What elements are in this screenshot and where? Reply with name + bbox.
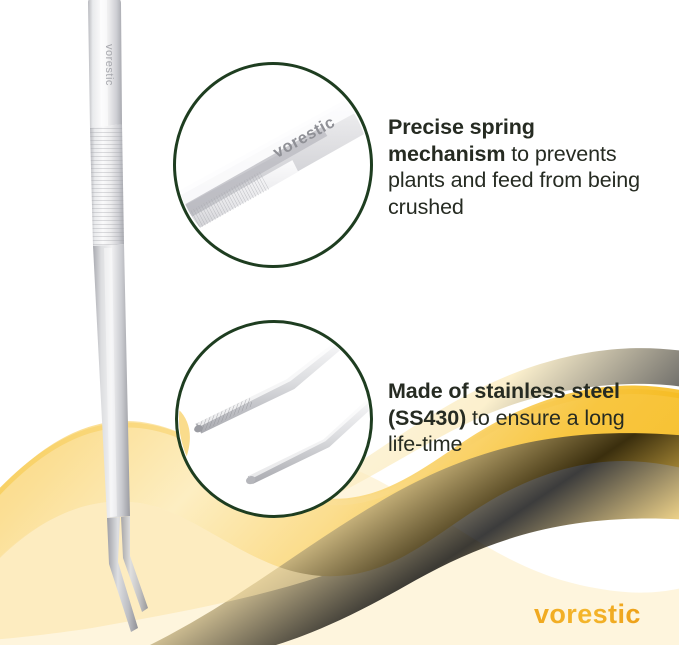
zoom-art-tweezer-tips [178,323,370,515]
brand-logo-text: vorestic [534,599,641,629]
callout-circle-stainless-steel [175,320,373,518]
feature-text-stainless-steel: Made of stainless steel (SS430) to ensur… [388,378,656,458]
brand-logo-vorestic: vorestic [534,598,670,630]
product-engraving-text: vorestic [103,44,115,86]
product-image-tweezers: vorestic [60,0,180,645]
callout-circle-spring-mechanism: vorestic [173,62,373,268]
product-infographic: vorestic [0,0,679,645]
zoom-art-spring-mechanism: vorestic [176,65,370,265]
feature-text-spring-mechanism: Precise spring mechanism to prevents pla… [388,114,656,220]
